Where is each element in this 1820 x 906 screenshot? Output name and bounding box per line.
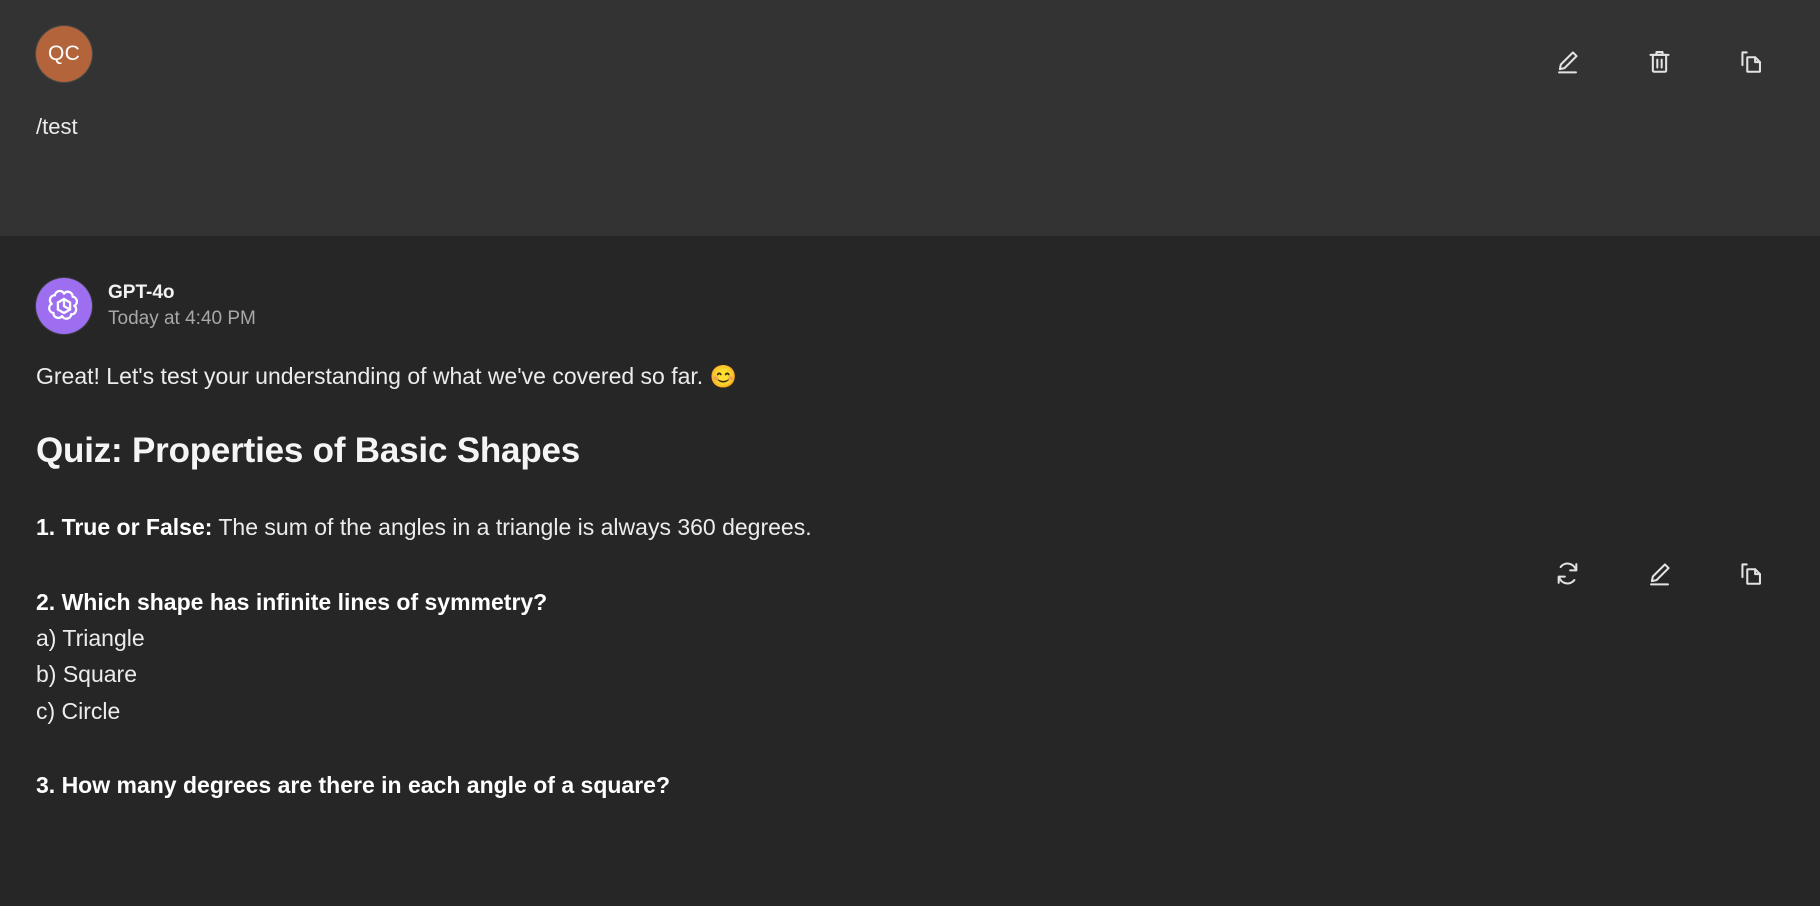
user-message-actions [1550, 44, 1768, 78]
question-2-label: 2. Which shape has infinite lines of sym… [36, 589, 547, 615]
question-3: 3. How many degrees are there in each an… [36, 767, 1784, 803]
question-2: 2. Which shape has infinite lines of sym… [36, 584, 1784, 729]
question-1: 1. True or False: The sum of the angles … [36, 509, 1784, 545]
trash-icon[interactable] [1642, 44, 1676, 78]
question-2-option-b: b) Square [36, 656, 1784, 692]
bot-message-actions [1550, 556, 1768, 590]
openai-logo-icon[interactable] [36, 278, 92, 334]
bot-message-block: GPT-4o Today at 4:40 PM [0, 236, 1820, 906]
avatar[interactable]: QC [36, 26, 92, 82]
question-1-text: The sum of the angles in a triangle is a… [212, 514, 811, 540]
question-2-prompt: 2. Which shape has infinite lines of sym… [36, 584, 1784, 620]
refresh-icon[interactable] [1550, 556, 1584, 590]
edit-icon[interactable] [1642, 556, 1676, 590]
question-1-label: 1. True or False: [36, 514, 212, 540]
avatar-initials: QC [48, 42, 80, 66]
question-1-prompt: 1. True or False: The sum of the angles … [36, 509, 1784, 545]
question-2-option-c: c) Circle [36, 693, 1784, 729]
quiz-heading: Quiz: Properties of Basic Shapes [36, 431, 1784, 471]
bot-message-content: Great! Let's test your understanding of … [36, 360, 1784, 803]
copy-icon[interactable] [1734, 44, 1768, 78]
edit-icon[interactable] [1550, 44, 1584, 78]
bot-message-header: GPT-4o Today at 4:40 PM [36, 278, 1784, 334]
bot-timestamp: Today at 4:40 PM [108, 306, 256, 332]
chat-transcript: QC [0, 0, 1820, 906]
question-2-option-a: a) Triangle [36, 620, 1784, 656]
intro-paragraph: Great! Let's test your understanding of … [36, 360, 1784, 393]
bot-identity: GPT-4o Today at 4:40 PM [108, 280, 256, 331]
smiling-face-emoji: 😊 [710, 364, 737, 389]
user-message-text: /test [36, 112, 1784, 143]
question-3-label: 3. How many degrees are there in each an… [36, 772, 670, 798]
copy-icon[interactable] [1734, 556, 1768, 590]
intro-text: Great! Let's test your understanding of … [36, 363, 703, 389]
question-3-prompt: 3. How many degrees are there in each an… [36, 767, 1784, 803]
user-message-block: QC [0, 0, 1820, 236]
bot-author-name: GPT-4o [108, 280, 256, 306]
user-message-header: QC [36, 26, 1784, 82]
